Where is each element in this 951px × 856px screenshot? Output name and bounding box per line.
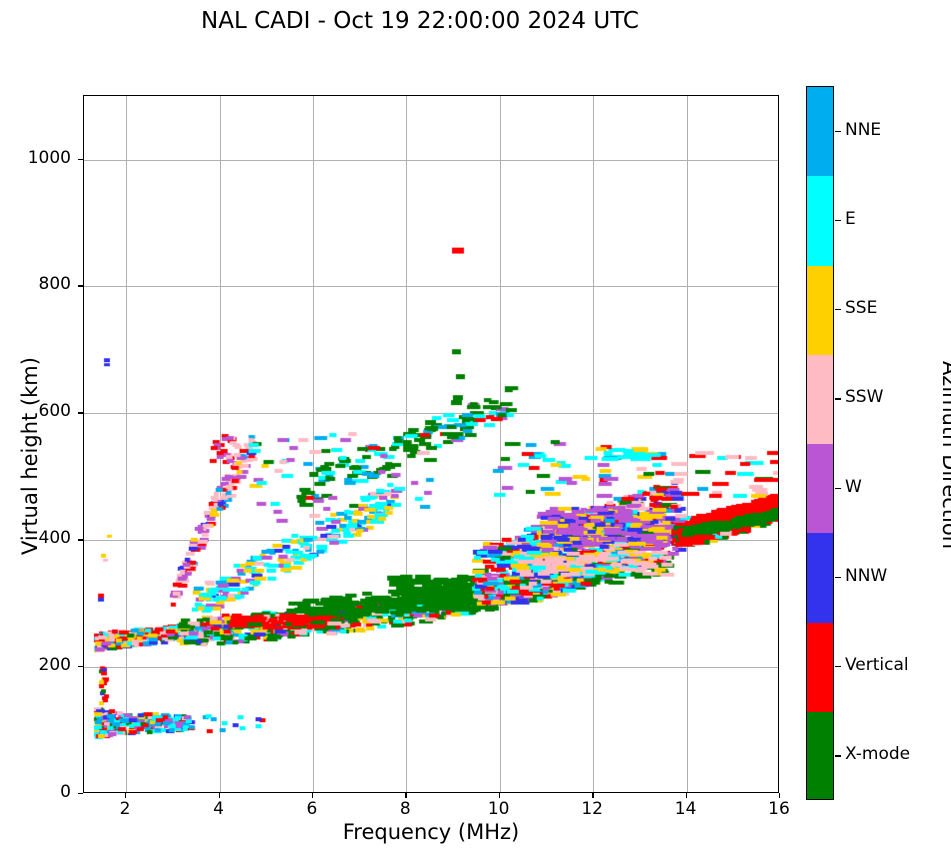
x-axis-tick-label: 8 <box>385 799 425 819</box>
y-axis-tick-mark <box>78 412 83 413</box>
colorbar-label-nne: NNE <box>845 120 881 140</box>
y-axis-tick-label: 1000 <box>0 148 71 168</box>
colorbar-segment-sse[interactable] <box>807 266 833 355</box>
x-axis-tick-mark <box>779 793 780 798</box>
colorbar-segment-nne[interactable] <box>807 87 833 176</box>
colorbar-label-e: E <box>845 209 856 229</box>
y-axis-tick-mark <box>78 159 83 160</box>
colorbar-segment-e[interactable] <box>807 176 833 265</box>
x-axis-tick-mark <box>686 793 687 798</box>
colorbar-label-ssw: SSW <box>845 387 883 407</box>
colorbar-tick-mark <box>835 309 841 310</box>
x-axis-tick-mark <box>125 793 126 798</box>
colorbar-segment-nnw[interactable] <box>807 533 833 622</box>
y-axis-tick-mark <box>78 539 83 540</box>
y-axis-tick-label: 800 <box>0 274 71 294</box>
colorbar-tick-mark <box>835 577 841 578</box>
azimuth-colorbar[interactable] <box>806 86 834 800</box>
y-axis-label: Virtual height (km) <box>18 306 42 606</box>
colorbar-tick-mark <box>835 666 841 667</box>
page-title: NAL CADI - Oct 19 22:00:00 2024 UTC <box>0 8 840 34</box>
x-axis-tick-mark <box>405 793 406 798</box>
colorbar-segment-w[interactable] <box>807 444 833 533</box>
y-axis-tick-label: 200 <box>0 655 71 675</box>
colorbar-title: Azimuth Direction <box>938 305 951 605</box>
colorbar-tick-mark <box>835 398 841 399</box>
y-axis-tick-label: 0 <box>0 782 71 802</box>
x-axis-tick-label: 6 <box>292 799 332 819</box>
colorbar-label-vertical: Vertical <box>845 655 909 675</box>
colorbar-tick-mark <box>835 488 841 489</box>
ionogram-figure: NAL CADI - Oct 19 22:00:00 2024 UTC Freq… <box>0 0 951 856</box>
x-axis-tick-mark <box>312 793 313 798</box>
y-axis-tick-mark <box>78 285 83 286</box>
x-axis-label: Frequency (MHz) <box>83 820 779 844</box>
x-axis-tick-label: 16 <box>759 799 799 819</box>
x-axis-tick-label: 2 <box>105 799 145 819</box>
colorbar-tick-mark <box>835 755 841 756</box>
x-axis-tick-label: 12 <box>572 799 612 819</box>
colorbar-label-nnw: NNW <box>845 566 887 586</box>
y-axis-tick-mark <box>78 793 83 794</box>
colorbar-segment-x-mode[interactable] <box>807 712 833 800</box>
x-axis-tick-mark <box>499 793 500 798</box>
colorbar-segment-ssw[interactable] <box>807 355 833 444</box>
colorbar-label-x-mode: X-mode <box>845 744 910 764</box>
colorbar-tick-mark <box>835 220 841 221</box>
x-axis-tick-label: 10 <box>479 799 519 819</box>
colorbar-label-w: W <box>845 477 862 497</box>
y-axis-tick-mark <box>78 666 83 667</box>
x-axis-tick-mark <box>219 793 220 798</box>
scatter-plot-canvas <box>84 96 778 792</box>
colorbar-segment-vertical[interactable] <box>807 623 833 712</box>
y-axis-tick-label: 600 <box>0 401 71 421</box>
plot-area[interactable] <box>83 95 779 793</box>
x-axis-tick-mark <box>592 793 593 798</box>
x-axis-tick-label: 4 <box>199 799 239 819</box>
y-axis-tick-label: 400 <box>0 528 71 548</box>
x-axis-tick-label: 14 <box>666 799 706 819</box>
colorbar-label-sse: SSE <box>845 298 877 318</box>
colorbar-tick-mark <box>835 131 841 132</box>
